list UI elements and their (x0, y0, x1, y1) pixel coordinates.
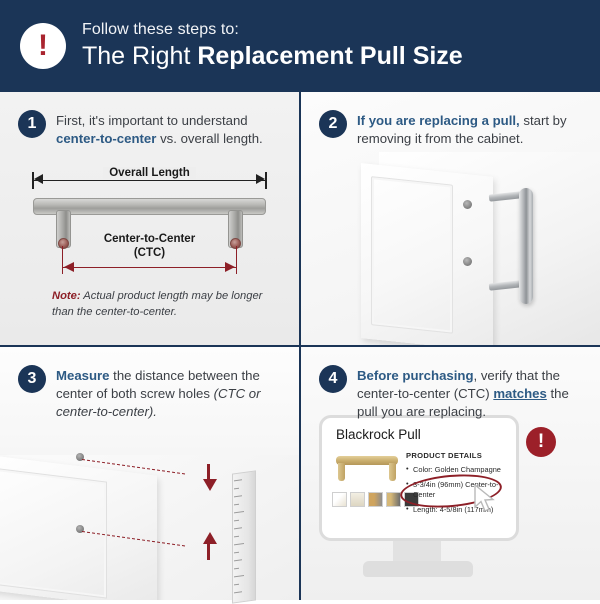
ctc-drop-right (236, 246, 237, 274)
product-title: Blackrock Pull (336, 427, 421, 442)
step-panel-2: 2 If you are replacing a pull, start by … (301, 92, 600, 345)
ctc-arrowhead-right-icon (225, 262, 235, 272)
cabinet-door (361, 163, 493, 345)
bar-pull-handle (519, 188, 533, 304)
product-image (334, 452, 400, 484)
step-1-header: 1 First, it's important to understand ce… (18, 112, 287, 148)
thumbnail-1[interactable] (332, 492, 347, 507)
mouse-cursor-icon (474, 484, 496, 514)
overall-arrowhead-left-icon (34, 174, 43, 184)
step-1-text: First, it's important to understand cent… (56, 112, 287, 148)
alert-exclamation-glyph: ! (526, 431, 556, 452)
measure-arrow-up-icon (203, 532, 217, 544)
measure-arrow-stem-top (207, 464, 210, 480)
measure-arrow-stem-bottom (207, 544, 210, 560)
exclamation-glyph: ! (20, 31, 66, 61)
diagram-note: Note: Actual product length may be longe… (52, 288, 275, 320)
step-3-highlight: Measure (56, 368, 110, 383)
step-number-4: 4 (319, 365, 347, 393)
exclamation-circle-icon: ! (20, 23, 66, 69)
overall-tick-right (265, 172, 267, 189)
cabinet-screw-hole-top (463, 200, 472, 209)
step-2-header: 2 If you are replacing a pull, start by … (319, 112, 588, 148)
ctc-label-line1: Center-to-Center (0, 232, 299, 246)
header-banner: ! Follow these steps to: The Right Repla… (0, 0, 600, 92)
product-handle-leg-left (338, 463, 345, 481)
product-details-heading: PRODUCT DETAILS (406, 451, 508, 461)
monitor-base (363, 561, 473, 577)
step-1-highlight: center-to-center (56, 131, 156, 146)
step-4-underline-link[interactable]: matches (493, 386, 547, 401)
step-4-text: Before purchasing, verify that the cente… (357, 367, 588, 421)
thumbnail-3[interactable] (368, 492, 383, 507)
step-4-highlight: Before purchasing (357, 368, 474, 383)
header-text-block: Follow these steps to: The Right Replace… (82, 20, 463, 72)
note-text: Actual product length may be longer than… (52, 290, 262, 318)
thumbnail-4[interactable] (386, 492, 401, 507)
note-label: Note: (52, 290, 81, 302)
ctc-arrowhead-left-icon (64, 262, 74, 272)
steps-grid: 1 First, it's important to understand ce… (0, 92, 600, 600)
ctc-label: Center-to-Center (CTC) (0, 232, 299, 260)
ctc-measure-line (63, 267, 236, 268)
step-panel-1: 1 First, it's important to understand ce… (0, 92, 299, 345)
cabinet-screw-hole-bottom (463, 257, 472, 266)
monitor-screen: Blackrock Pull PRODUCT DETAIL (319, 415, 519, 541)
step-number-3: 3 (18, 365, 46, 393)
ctc-label-line2: (CTC) (0, 246, 299, 260)
step-number-1: 1 (18, 110, 46, 138)
step-3-header: 3 Measure the distance between the cente… (18, 367, 287, 421)
pull-dimension-diagram: Overall Length Center-to-Center (CTC) (0, 170, 299, 345)
infographic-root: ! Follow these steps to: The Right Repla… (0, 0, 600, 600)
monitor-neck (393, 541, 441, 563)
overall-arrowhead-right-icon (256, 174, 265, 184)
step-1-line2: vs. overall length. (156, 131, 262, 146)
overall-length-line (33, 180, 266, 181)
step-number-2: 2 (319, 110, 347, 138)
ruler-icon (232, 470, 256, 603)
page-title: The Right Replacement Pull Size (82, 41, 463, 72)
step-1-line1: First, it's important to understand (56, 113, 248, 128)
measure-arrow-down-icon (203, 479, 217, 491)
step-2-highlight: If you are replacing a pull, (357, 113, 520, 128)
alert-circle-icon: ! (526, 427, 556, 457)
title-light-part: The Right (82, 42, 197, 70)
title-bold-part: Replacement Pull Size (197, 42, 462, 70)
product-handle-leg-right (389, 463, 396, 481)
step-panel-4: Blackrock Pull PRODUCT DETAIL (301, 347, 600, 600)
header-kicker: Follow these steps to: (82, 20, 463, 39)
step-2-text: If you are replacing a pull, start by re… (357, 112, 588, 148)
overall-length-text: Overall Length (103, 167, 196, 179)
thumbnail-2[interactable] (350, 492, 365, 507)
step-4-header: 4 Before purchasing, verify that the cen… (319, 367, 588, 421)
overall-length-label: Overall Length (0, 167, 299, 179)
step-3-text: Measure the distance between the center … (56, 367, 287, 421)
